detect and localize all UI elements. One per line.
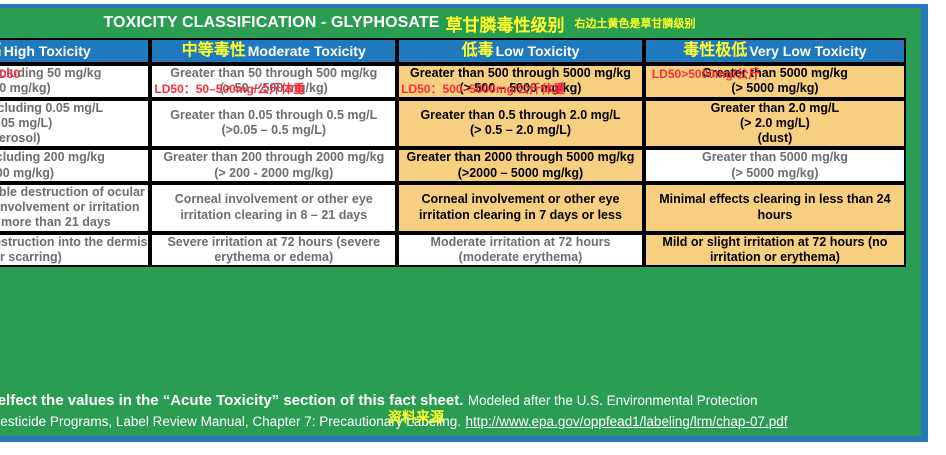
poster-title-bar: TOXICITY CLASSIFICATION - GLYPHOSATE 草甘膦… [0, 8, 921, 38]
table-cell: Up to and including 0.05 mg/L(≤ 0.05 mg/… [0, 99, 150, 149]
column-header-english: Low Toxicity [496, 44, 580, 58]
table-header-row: 毒性最高 High Toxicity 中等毒性 Moderate Toxicit… [0, 38, 906, 64]
cell-text: Greater than 200 through 2000 mg/kg(> 20… [163, 150, 384, 179]
table-row: Corrosive (irreversible destruction of o… [0, 183, 906, 233]
table-cell: Corneal involvement or other eye irritat… [150, 183, 397, 233]
table-cell: Mild or slight irritation at 72 hours (n… [644, 233, 906, 268]
cell-text: Greater than 5000 mg/kg(> 5000 mg/kg) [702, 150, 848, 179]
table-header: 毒性最高 High Toxicity 中等毒性 Moderate Toxicit… [0, 38, 906, 64]
poster-panel: TOXICITY CLASSIFICATION - GLYPHOSATE 草甘膦… [0, 8, 928, 442]
cell-text: Corrosive (tissue destruction into the d… [0, 235, 148, 264]
table-cell: Greater than 0.5 through 2.0 mg/L(> 0.5 … [397, 99, 644, 149]
footer-line-2: Agency, Office of Pesticide Programs, La… [0, 412, 913, 432]
right-gutter [928, 0, 946, 455]
column-header-english: High Toxicity [4, 44, 91, 58]
table-cell: Greater than 2.0 mg/L(> 2.0 mg/L)(dust) [644, 99, 906, 149]
cell-text: Mild or slight irritation at 72 hours (n… [662, 235, 887, 264]
toxicity-table: 毒性最高 High Toxicity 中等毒性 Moderate Toxicit… [0, 38, 906, 267]
table-body: 50mg/公斤体重即达LD50 Up to and including 50 m… [0, 64, 906, 267]
column-header-english: Very Low Toxicity [749, 44, 866, 58]
table-cell: Up to and including 200 mg/kg(≤ 200 mg/k… [0, 148, 150, 183]
cell-text: Corrosive (irreversible destruction of o… [0, 185, 145, 230]
table-row: Corrosive (tissue destruction into the d… [0, 233, 906, 268]
column-header-high-toxicity: 毒性最高 High Toxicity [0, 38, 150, 64]
cell-text: Greater than 2.0 mg/L(> 2.0 mg/L)(dust) [711, 101, 840, 146]
cell-text: Greater than 2000 through 5000 mg/kg(>20… [407, 150, 635, 179]
column-header-english: Moderate Toxicity [248, 44, 366, 58]
table-cell: Severe irritation at 72 hours (severe er… [150, 233, 397, 268]
table-cell: Corneal involvement or other eye irritat… [397, 183, 644, 233]
cell-text: Up to and including 200 mg/kg(≤ 200 mg/k… [0, 150, 105, 179]
cell-text: Greater than 50 through 500 mg/kg(> 50 –… [170, 66, 377, 95]
column-header-chinese: 中等毒性 [182, 43, 246, 59]
footer-line-1: Shaded boxes relfect the values in the “… [0, 391, 913, 411]
title-chinese-note: 右边土黄色是草甘膦级别 [575, 15, 696, 31]
table-row: Up to and including 0.05 mg/L(≤ 0.05 mg/… [0, 99, 906, 149]
table-cell: Greater than 200 through 2000 mg/kg(> 20… [150, 148, 397, 183]
table-cell: LD50>5000mg/公斤 Greater than 5000 mg/kg(>… [644, 64, 906, 99]
title-english: TOXICITY CLASSIFICATION - GLYPHOSATE [103, 14, 439, 32]
table-cell: Minimal effects clearing in less than 24… [644, 183, 906, 233]
cell-text: Corneal involvement or other eye irritat… [175, 192, 373, 221]
column-header-very-low-toxicity: 毒性极低 Very Low Toxicity [644, 38, 906, 64]
table-row: Up to and including 200 mg/kg(≤ 200 mg/k… [0, 148, 906, 183]
column-header-chinese: 低毒 [462, 43, 494, 59]
column-header-chinese: 毒性极低 [683, 43, 747, 59]
cell-text: Greater than 0.05 through 0.5 mg/L(>0.05… [170, 108, 377, 137]
footer-source-link[interactable]: http://www.epa.gov/oppfead1/labeling/lrm… [466, 414, 788, 429]
cell-text: Greater than 500 through 5000 mg/kg(> 50… [410, 66, 631, 95]
table-cell: Corrosive (irreversible destruction of o… [0, 183, 150, 233]
cell-text: Minimal effects clearing in less than 24… [659, 192, 890, 221]
cell-text: Up to and including 0.05 mg/L(≤ 0.05 mg/… [0, 101, 103, 146]
cell-text: Up to and including 50 mg/kg(≤ 50 mg/kg) [0, 66, 101, 95]
table-cell: Corrosive (tissue destruction into the d… [0, 233, 150, 268]
column-header-chinese: 毒性最高 [0, 43, 2, 59]
table-cell: Greater than 2000 through 5000 mg/kg(>20… [397, 148, 644, 183]
table-cell: Greater than 0.05 through 0.5 mg/L(>0.05… [150, 99, 397, 149]
table-row: 50mg/公斤体重即达LD50 Up to and including 50 m… [0, 64, 906, 99]
column-header-low-toxicity: 低毒 Low Toxicity [397, 38, 644, 64]
table-cell: 50mg/公斤体重即达LD50 Up to and including 50 m… [0, 64, 150, 99]
cell-text: Moderate irritation at 72 hours (moderat… [431, 235, 611, 264]
bottom-accent-strip [0, 436, 928, 442]
footer-source-intro: Modeled after the U.S. Environmental Pro… [468, 393, 758, 408]
footer-chinese-note: 资料来源 [388, 407, 444, 427]
table-cell: Greater than 5000 mg/kg(> 5000 mg/kg) [644, 148, 906, 183]
table-cell: Moderate irritation at 72 hours (moderat… [397, 233, 644, 268]
cell-text: Severe irritation at 72 hours (severe er… [167, 235, 380, 264]
poster-footer: Shaded boxes relfect the values in the “… [0, 387, 921, 432]
toxicity-classification-poster: TOXICITY CLASSIFICATION - GLYPHOSATE 草甘膦… [0, 0, 946, 455]
cell-text: Greater than 0.5 through 2.0 mg/L(> 0.5 … [420, 108, 620, 137]
table-cell: LD50：500–5000mg/公斤体重 Greater than 500 th… [397, 64, 644, 99]
column-header-moderate-toxicity: 中等毒性 Moderate Toxicity [150, 38, 397, 64]
table-cell: LD50：50–500mg/公斤体重 Greater than 50 throu… [150, 64, 397, 99]
title-chinese: 草甘膦毒性级别 [446, 11, 565, 36]
cell-text: Corneal involvement or other eye irritat… [419, 192, 622, 221]
cell-text: Greater than 5000 mg/kg(> 5000 mg/kg) [702, 66, 848, 95]
